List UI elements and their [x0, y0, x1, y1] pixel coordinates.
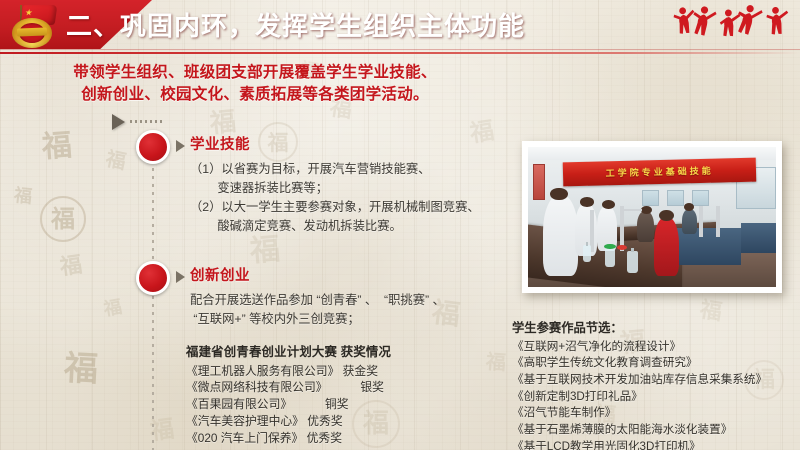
section-1-body: （1）以省赛为目标，开展汽车营销技能赛、 变速器拆装比赛等； （2）以大一学生主…	[190, 160, 480, 236]
fu-watermark: 福	[40, 196, 86, 242]
works-block: 学生参赛作品节选： 《互联网+沼气净化的流程设计》 《高职学生传统文化教育调查研…	[512, 320, 767, 450]
works-heading: 学生参赛作品节选：	[512, 320, 767, 338]
fu-watermark: 福	[103, 299, 124, 320]
photo-banner-text: 工学院专业基础技能	[605, 164, 713, 180]
header-underline	[0, 52, 800, 54]
photo-wall-cabinet	[533, 164, 545, 200]
fu-watermark: 福	[59, 254, 84, 279]
arrow-dotted-trail	[130, 120, 164, 123]
awards-row: 《020 汽车上门保养》 优秀奖	[186, 430, 391, 447]
photo-student-red-coat	[654, 217, 679, 276]
photo-student	[637, 211, 654, 242]
fu-watermark: 福	[63, 351, 99, 387]
awards-row: 《微点网络科技有限公司》 银奖	[186, 379, 391, 396]
gold-ribbon	[17, 27, 47, 36]
bullet-node-2[interactable]	[136, 261, 170, 295]
photo-frame: 工学院专业基础技能	[522, 141, 782, 293]
photo-lab-stand	[699, 206, 703, 237]
section-2-arrow-icon	[176, 271, 185, 283]
section-1-arrow-icon	[176, 140, 185, 152]
jumping-people-silhouette-icon	[670, 3, 792, 50]
photo-lab-clamp	[620, 209, 642, 211]
awards-row: 《理工机器人服务有限公司》 获金奖	[186, 363, 391, 380]
photo-red-flask-top	[617, 245, 627, 250]
headline-line-2: 创新创业、校园文化、素质拓展等各类团学活动。	[30, 84, 480, 106]
page-title: 二、巩固内环，发挥学生组织主体功能	[66, 6, 525, 43]
photo-student-head	[641, 206, 652, 214]
fu-watermark: 福	[468, 118, 495, 145]
photo-poster	[642, 190, 659, 205]
awards-row: 《汽车美容护理中心》 优秀奖	[186, 413, 391, 430]
photo-poster	[667, 190, 684, 205]
works-row: 《沼气节能车制作》	[512, 405, 767, 422]
bullet-node-1[interactable]	[136, 130, 170, 164]
works-row: 《基于互联网技术开发加油站库存信息采集系统》	[512, 372, 767, 389]
fu-watermark: 福	[249, 235, 282, 268]
section-2-body: 配合开展选送作品参加 “创青春” 、 “职挑赛” 、 “互联网+” 等校内外三创…	[190, 291, 445, 329]
photo-student-head	[580, 197, 594, 207]
fu-watermark: 福	[41, 131, 73, 163]
fu-watermark: 福	[258, 122, 298, 162]
arrow-right-icon	[112, 114, 125, 130]
works-row: 《互联网+沼气净化的流程设计》	[512, 339, 767, 356]
photo-red-banner: 工学院专业基础技能	[562, 157, 756, 186]
section-1-title: 学业技能	[190, 133, 250, 154]
slide-header: 二、巩固内环，发挥学生组织主体功能	[0, 0, 800, 55]
awards-row: 《百果园有限公司》 铜奖	[186, 396, 391, 413]
headline-line-1: 带领学生组织、班级团支部开展覆盖学生学业技能、	[30, 62, 480, 84]
works-row: 《基于LCD教学用光固化3D打印机》	[512, 439, 767, 450]
fu-watermark: 福	[104, 148, 128, 172]
timeline-dotted-connector	[152, 160, 154, 450]
headline-block: 带领学生组织、班级团支部开展覆盖学生学业技能、 创新创业、校园文化、素质拓展等各…	[30, 62, 480, 107]
communist-youth-league-emblem-icon	[8, 4, 56, 49]
photo-student-head	[550, 188, 567, 201]
photo-cabinet	[741, 223, 776, 254]
photo-bottle	[583, 245, 592, 262]
works-row: 《高职学生传统文化教育调查研究》	[512, 355, 767, 372]
section-2-title: 创新创业	[190, 264, 250, 285]
photo-lab-stand	[620, 206, 624, 251]
slide-root: 福 福 福 福 福 福 福 福 福 福 福 福 福 福 福 福 福 福 福 福 …	[0, 0, 800, 450]
header-hairline	[0, 49, 800, 50]
awards-heading: 福建省创青春创业计划大赛 获奖情况	[186, 344, 391, 362]
fu-watermark: 福	[13, 187, 33, 207]
works-row: 《创新定制3D打印礼品》	[512, 389, 767, 406]
photo-bottle	[605, 248, 615, 268]
jumpers-svg	[670, 3, 792, 50]
photo-lab-stand	[716, 206, 720, 237]
photo-bottle	[627, 251, 638, 273]
fu-watermark: 福	[485, 351, 506, 372]
lab-skills-competition-photo: 工学院专业基础技能	[528, 147, 776, 287]
photo-student	[682, 209, 697, 234]
photo-poster	[692, 190, 709, 205]
works-row: 《基于石墨烯薄膜的太阳能海水淡化装置》	[512, 422, 767, 439]
photo-student-head	[684, 203, 694, 211]
awards-block: 福建省创青春创业计划大赛 获奖情况 《理工机器人服务有限公司》 获金奖 《微点网…	[186, 344, 391, 446]
photo-student	[543, 195, 578, 276]
